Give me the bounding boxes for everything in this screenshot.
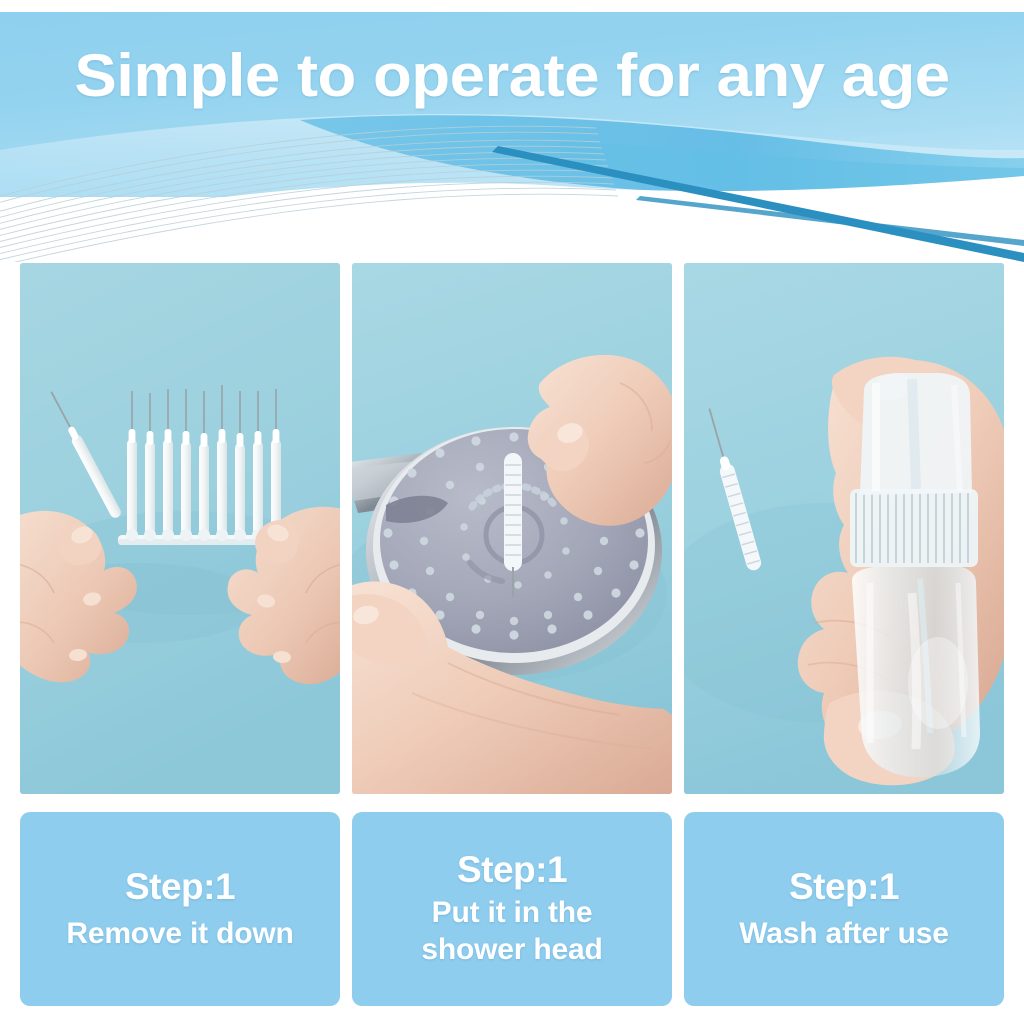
step-description-2-line1: Put it in the [421,894,602,932]
photo-panel-row [20,263,1004,794]
page-title: Simple to operate for any age [0,44,1024,107]
header-banner: Simple to operate for any age [0,0,1024,262]
step-description-2-line2: shower head [421,931,602,969]
spray-bottle [850,373,980,777]
step-label-1: Step:1 [125,866,235,909]
caption-box-2: Step:1 Put it in the shower head [352,812,672,1006]
caption-box-1: Step:1 Remove it down [20,812,340,1006]
step-description-1: Remove it down [66,915,293,953]
panel-insert-brush [352,263,672,794]
infographic-page: Simple to operate for any age [0,0,1024,1024]
step-description-3: Wash after use [739,915,949,953]
panel-remove-brush [20,263,340,794]
step-label-3: Step:1 [789,866,899,909]
step-label-2: Step:1 [457,849,567,892]
caption-row: Step:1 Remove it down Step:1 Put it in t… [20,812,1004,1006]
panel-wash-brush [684,263,1004,794]
caption-box-3: Step:1 Wash after use [684,812,1004,1006]
step-description-2: Put it in the shower head [421,894,602,969]
header-wave-graphic [0,0,1024,262]
